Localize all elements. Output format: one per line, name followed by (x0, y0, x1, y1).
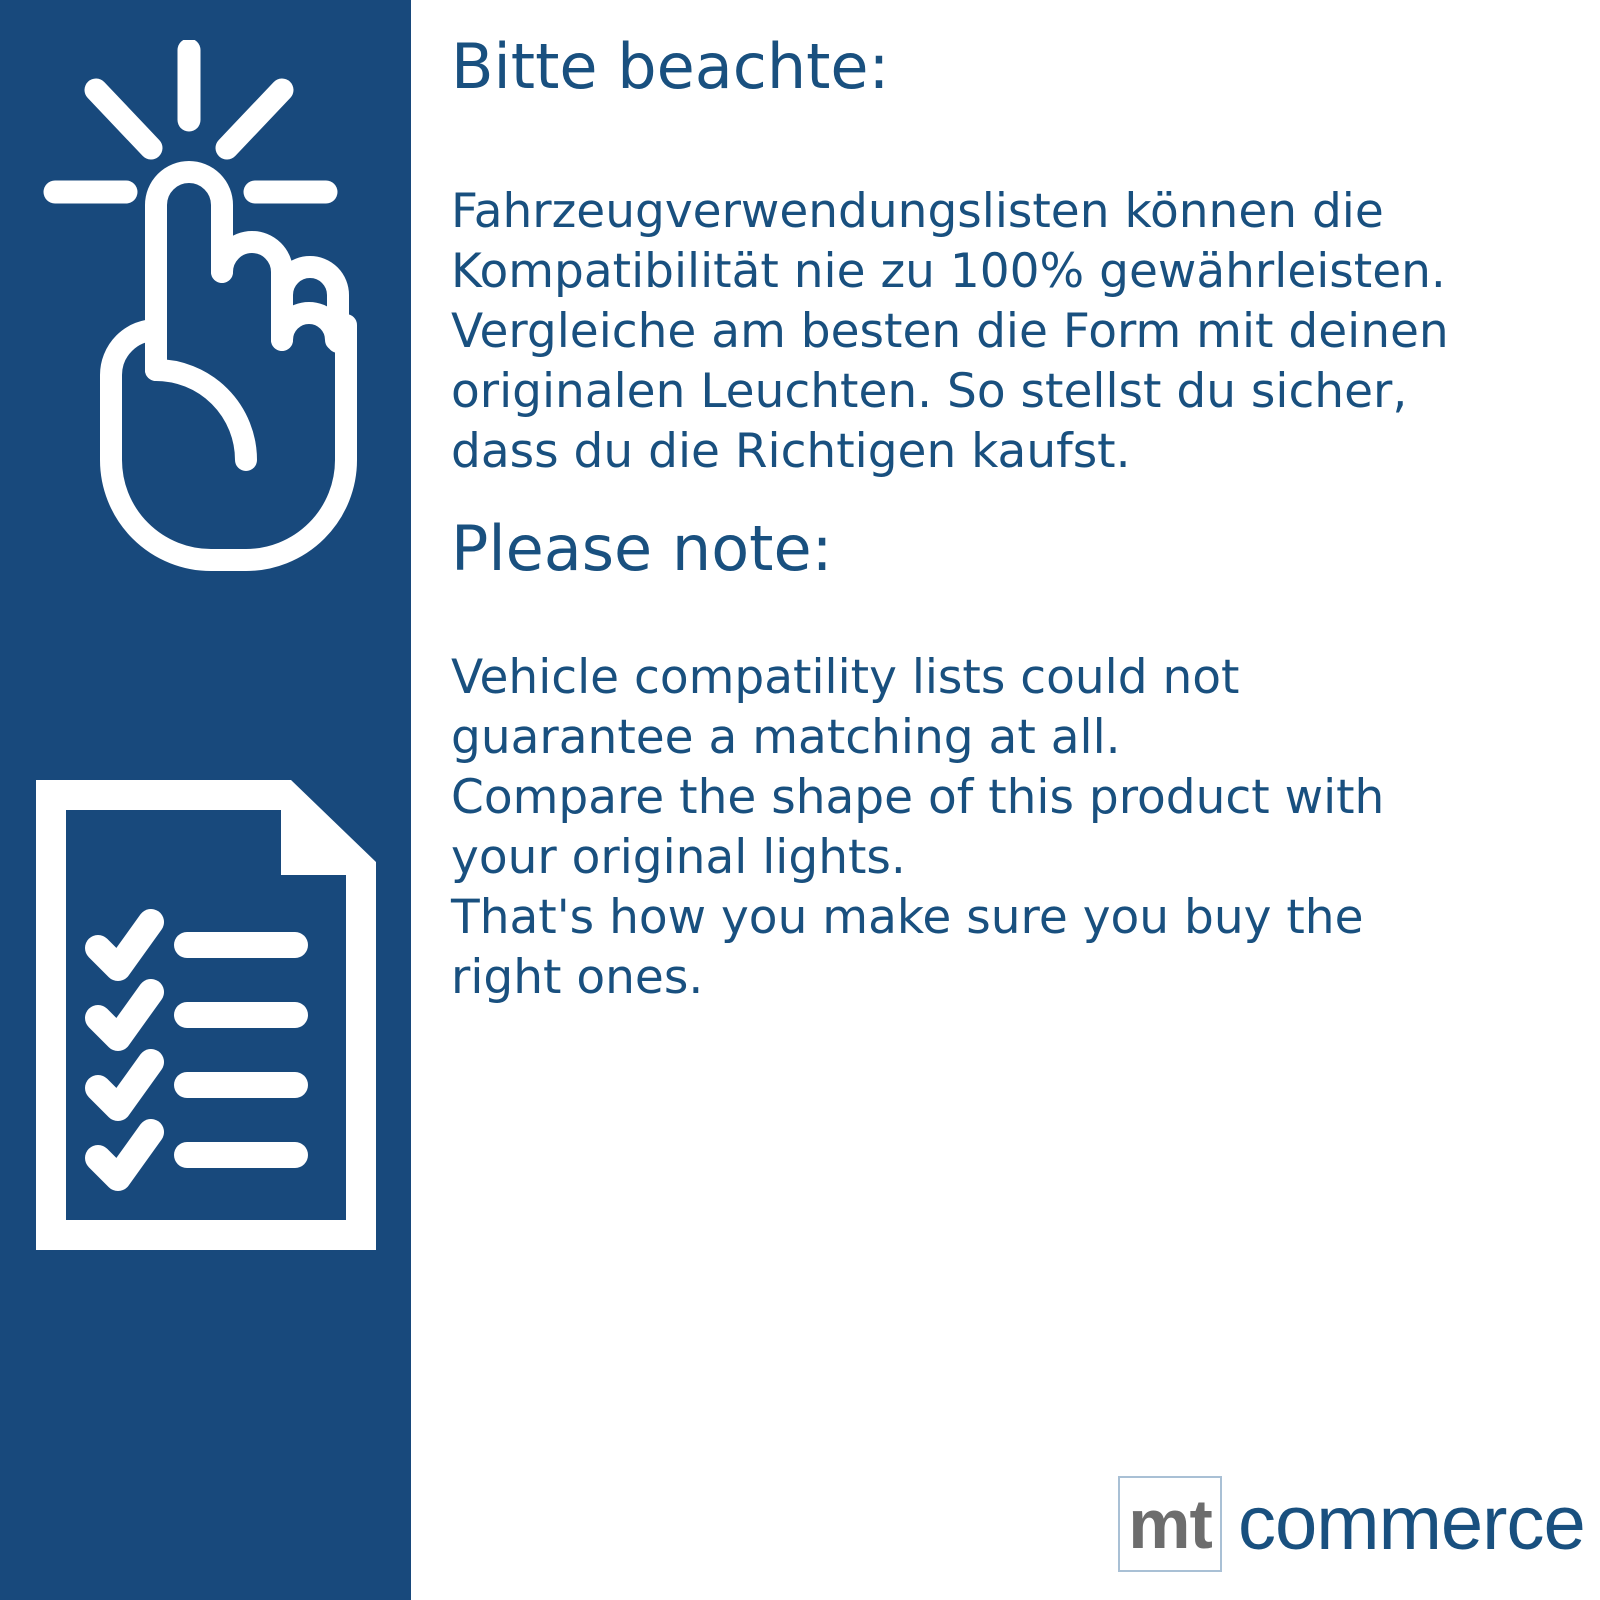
english-paragraph: Vehicle compatility lists could not guar… (451, 648, 1521, 1008)
pointing-hand-click-icon-graphic (41, 40, 371, 595)
german-line: Fahrzeugverwendungslisten können die (451, 182, 1521, 242)
english-line: right ones. (451, 948, 1521, 1008)
english-line: Compare the shape of this product with (451, 768, 1521, 828)
english-line: guarantee a matching at all. (451, 708, 1521, 768)
pointing-hand-click-icon (0, 40, 411, 600)
english-line: Vehicle compatility lists could not (451, 648, 1521, 708)
logo-mark-text: mt (1128, 1489, 1212, 1559)
promo-notice-page: Bitte beachte: Fahrzeugverwendungslisten… (0, 0, 1600, 1600)
logo-mark-box: mt (1118, 1476, 1222, 1572)
english-line: That's how you make sure you buy the (451, 888, 1521, 948)
german-line: originalen Leuchten. So stellst du siche… (451, 362, 1521, 422)
german-line: Kompatibilität nie zu 100% gewährleisten… (451, 242, 1521, 302)
english-line: your original lights. (451, 828, 1521, 888)
german-paragraph: Fahrzeugverwendungslisten können die Kom… (451, 182, 1521, 482)
logo-wordmark: commerce (1238, 1486, 1585, 1562)
german-line: dass du die Richtigen kaufst. (451, 422, 1521, 482)
german-heading: Bitte beachte: (451, 36, 889, 98)
notice-content: Bitte beachte: Fahrzeugverwendungslisten… (411, 0, 1600, 1600)
german-line: Vergleiche am besten die Form mit deinen (451, 302, 1521, 362)
english-heading: Please note: (451, 518, 832, 580)
mt-commerce-logo: mt commerce (1118, 1472, 1585, 1576)
checklist-document-icon-graphic (26, 770, 386, 1260)
icon-sidebar (0, 0, 411, 1600)
checklist-document-icon (0, 770, 411, 1270)
